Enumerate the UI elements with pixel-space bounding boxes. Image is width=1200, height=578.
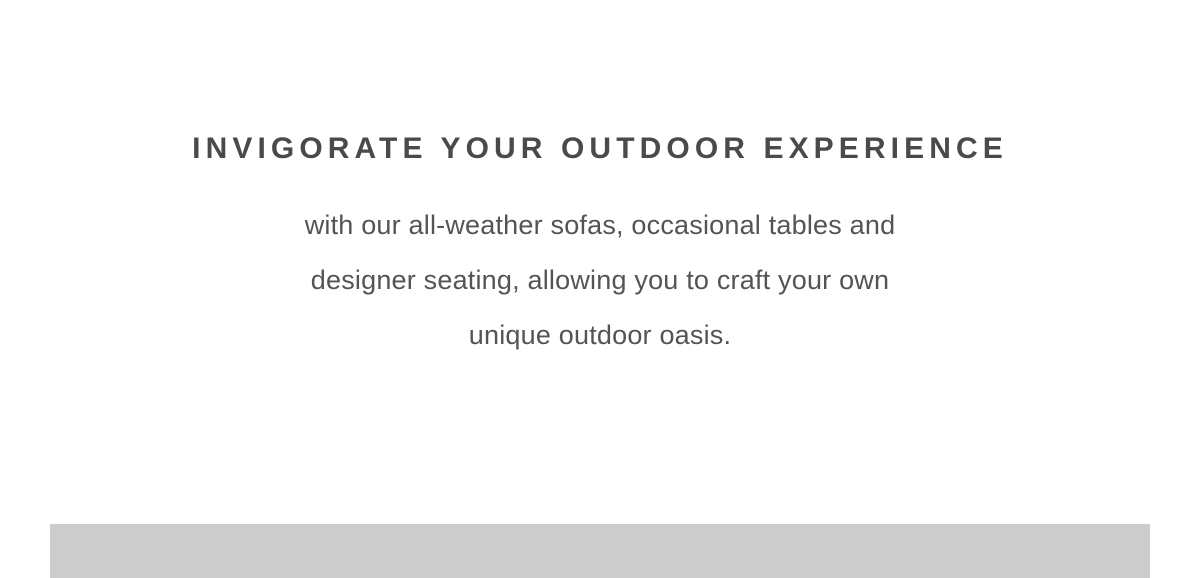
promo-description-line: designer seating, allowing you to craft … xyxy=(0,253,1200,308)
promo-page: INVIGORATE YOUR OUTDOOR EXPERIENCE with … xyxy=(0,0,1200,578)
promo-description-line: unique outdoor oasis. xyxy=(0,308,1200,363)
media-placeholder-banner xyxy=(50,524,1150,578)
promo-description: with our all-weather sofas, occasional t… xyxy=(0,170,1200,363)
promo-description-line: with our all-weather sofas, occasional t… xyxy=(0,198,1200,253)
page-title: INVIGORATE YOUR OUTDOOR EXPERIENCE xyxy=(0,128,1200,170)
promo-section: INVIGORATE YOUR OUTDOOR EXPERIENCE with … xyxy=(0,0,1200,363)
